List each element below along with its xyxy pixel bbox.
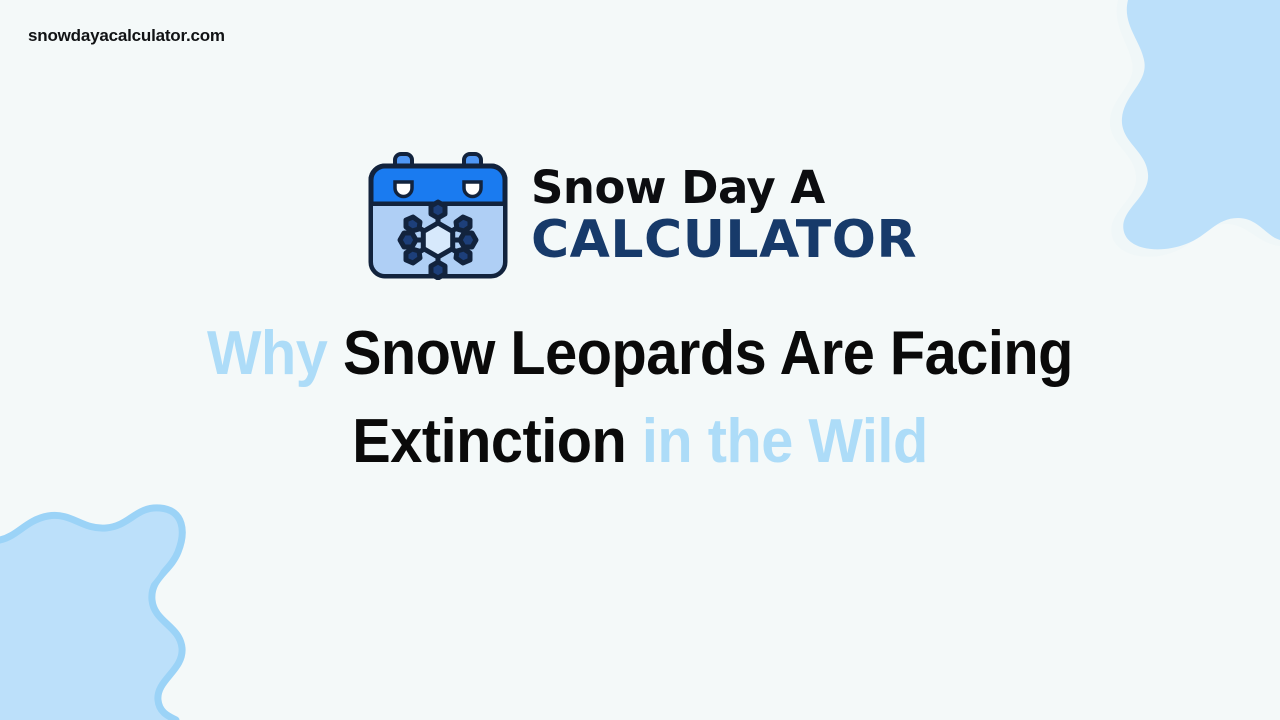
page-title-accent-lead: Why bbox=[207, 319, 343, 388]
page-content: Snow Day A CALCULATOR Why Snow Leopards … bbox=[0, 0, 1280, 720]
calendar-snowflake-icon bbox=[363, 152, 513, 280]
brand-logo-line-one: Snow Day A bbox=[531, 164, 917, 211]
brand-logo[interactable]: Snow Day A CALCULATOR bbox=[363, 152, 917, 280]
page-title-accent-tail: in the Wild bbox=[642, 407, 928, 476]
page-title-main-tail: Extinction bbox=[352, 407, 642, 476]
site-domain-label: snowdayacalculator.com bbox=[28, 26, 225, 46]
page-title-main-lead: Snow Leopards Are Facing bbox=[343, 319, 1073, 388]
page-title: Why Snow Leopards Are Facing Extinction … bbox=[175, 310, 1105, 486]
brand-logo-wordmark: Snow Day A CALCULATOR bbox=[531, 164, 917, 268]
brand-logo-line-two: CALCULATOR bbox=[531, 213, 917, 268]
